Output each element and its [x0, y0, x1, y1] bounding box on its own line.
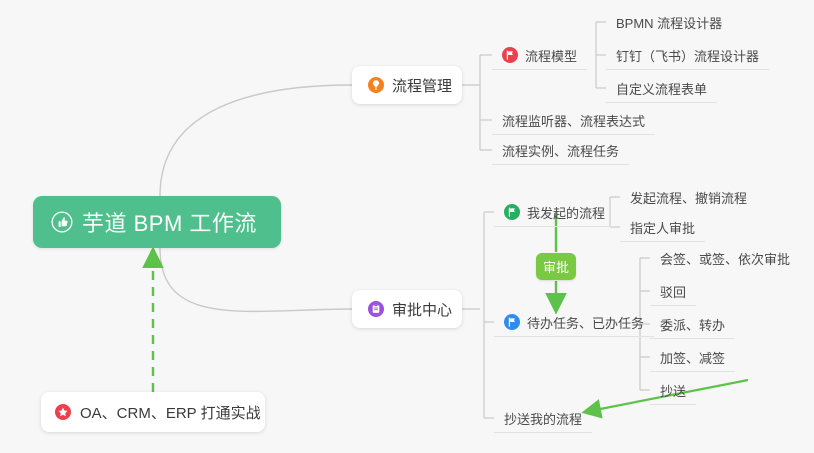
flag-icon-blue: [504, 314, 520, 330]
item-cc-to-me-processes[interactable]: 抄送我的流程: [494, 404, 592, 433]
item-cc[interactable]: 抄送: [650, 376, 696, 405]
item-reject[interactable]: 驳回: [650, 277, 696, 306]
root-node[interactable]: 芋道 BPM 工作流: [33, 196, 281, 248]
item-label: 待办任务、已办任务: [527, 313, 644, 332]
item-process-instance[interactable]: 流程实例、流程任务: [492, 136, 629, 165]
flag-icon-green: [504, 204, 520, 220]
item-start-cancel-process[interactable]: 发起流程、撤销流程: [620, 183, 757, 212]
item-label: 驳回: [660, 282, 686, 301]
item-my-started-processes[interactable]: 我发起的流程: [494, 198, 615, 227]
thumbs-up-icon: [51, 211, 73, 233]
item-dingtalk-designer[interactable]: 钉钉（飞书）流程设计器: [606, 41, 769, 70]
item-label: 钉钉（飞书）流程设计器: [616, 46, 759, 65]
item-bpmn-designer[interactable]: BPMN 流程设计器: [606, 8, 732, 37]
item-label: 指定人审批: [630, 218, 695, 237]
flag-icon-red: [502, 47, 518, 63]
lightbulb-icon: [368, 77, 384, 93]
item-custom-form[interactable]: 自定义流程表单: [606, 74, 717, 103]
item-assignee-approval[interactable]: 指定人审批: [620, 213, 705, 242]
item-label: 委派、转办: [660, 315, 725, 334]
approval-pill[interactable]: 审批: [536, 253, 576, 280]
branch-process-management[interactable]: 流程管理: [352, 66, 462, 104]
item-label: 抄送我的流程: [504, 409, 582, 428]
approval-pill-label: 审批: [543, 257, 569, 276]
bottom-card-label: OA、CRM、ERP 打通实战: [80, 402, 261, 423]
item-label: 加签、减签: [660, 348, 725, 367]
root-label: 芋道 BPM 工作流: [82, 206, 257, 238]
item-label: 会签、或签、依次审批: [660, 249, 790, 268]
item-countersign[interactable]: 会签、或签、依次审批: [650, 244, 800, 273]
item-label: 流程监听器、流程表达式: [502, 111, 645, 130]
item-process-listener[interactable]: 流程监听器、流程表达式: [492, 106, 655, 135]
bottom-card-integration[interactable]: OA、CRM、ERP 打通实战: [41, 392, 265, 432]
star-icon: [55, 404, 71, 420]
item-label: 自定义流程表单: [616, 79, 707, 98]
item-process-model[interactable]: 流程模型: [492, 41, 587, 70]
item-add-remove-sign[interactable]: 加签、减签: [650, 343, 735, 372]
item-label: BPMN 流程设计器: [616, 13, 722, 32]
branch-label: 流程管理: [392, 75, 452, 96]
item-label: 流程实例、流程任务: [502, 141, 619, 160]
item-label: 发起流程、撤销流程: [630, 188, 747, 207]
item-todo-done-tasks[interactable]: 待办任务、已办任务: [494, 308, 654, 337]
item-label: 抄送: [660, 381, 686, 400]
item-label: 流程模型: [525, 46, 577, 65]
branch-label: 审批中心: [392, 299, 452, 320]
item-label: 我发起的流程: [527, 203, 605, 222]
item-delegate-transfer[interactable]: 委派、转办: [650, 310, 735, 339]
clipboard-icon: [368, 301, 384, 317]
mindmap-canvas: 芋道 BPM 工作流 流程管理 流程模型 BPMN 流程设计器 钉钉（飞书: [0, 0, 814, 453]
branch-approval-center[interactable]: 审批中心: [352, 290, 462, 328]
